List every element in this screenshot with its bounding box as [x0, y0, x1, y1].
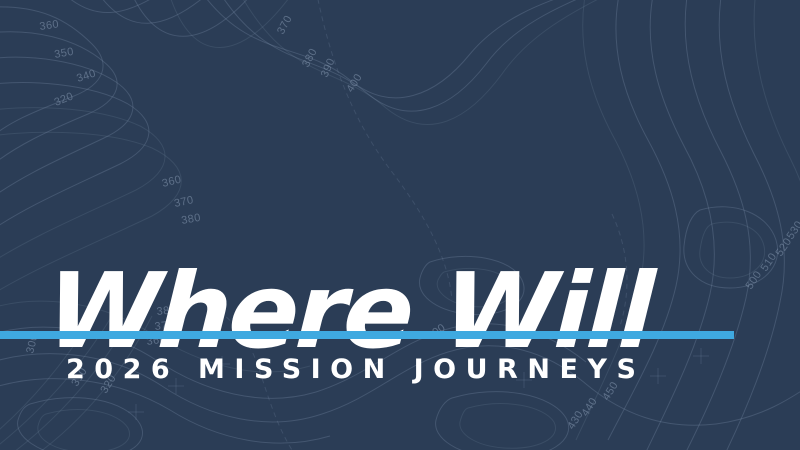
- poster-canvas: 3603503403203703803904003603703804304404…: [0, 0, 800, 450]
- page-title: Where Will You Go?: [18, 62, 760, 450]
- headline-line-1: Where Will: [44, 262, 749, 362]
- subtitle: 2026 MISSION JOURNEYS: [66, 354, 645, 385]
- poster-content: Where Will You Go? 2026 MISSION JOURNEYS: [0, 0, 800, 450]
- accent-divider-rule: [0, 331, 734, 339]
